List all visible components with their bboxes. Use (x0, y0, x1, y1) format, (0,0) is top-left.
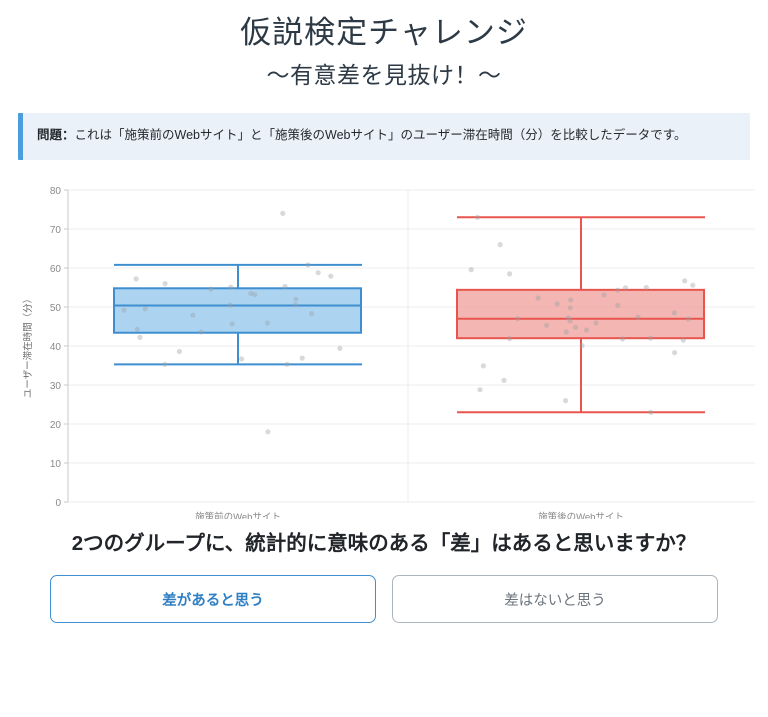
data-point (601, 292, 606, 297)
data-point (584, 327, 589, 332)
answer-button-row: 差があると思う 差はないと思う (0, 575, 768, 623)
data-point (648, 409, 653, 414)
data-point (481, 363, 486, 368)
data-point (682, 278, 687, 283)
problem-callout: 問題：これは「施策前のWebサイト」と「施策後のWebサイト」のユーザー滞在時間… (18, 113, 750, 160)
data-point (163, 281, 168, 286)
data-point (177, 348, 182, 353)
data-point (316, 270, 321, 275)
box-0 (114, 288, 361, 332)
page-title: 仮説検定チャレンジ (0, 14, 768, 53)
problem-label: 問題： (37, 128, 75, 142)
data-point (143, 306, 148, 311)
data-point (507, 271, 512, 276)
x-tick-label-0: 施策前のWebサイト (195, 511, 281, 519)
page-subtitle: 〜有意差を見抜け！〜 (0, 61, 768, 91)
data-point (137, 334, 142, 339)
data-point (300, 355, 305, 360)
answer-no-button[interactable]: 差はないと思う (392, 575, 718, 623)
data-point (230, 321, 235, 326)
data-point (681, 337, 686, 342)
y-tick-label-10: 10 (50, 459, 62, 470)
question-text: 2つのグループに、統計的に意味のある「差」はあると思いますか？ (30, 529, 738, 559)
data-point (536, 295, 541, 300)
data-point (265, 429, 270, 434)
data-point (469, 267, 474, 272)
data-point (573, 324, 578, 329)
y-tick-label-60: 60 (50, 264, 62, 275)
data-point (477, 387, 482, 392)
x-tick-label-1: 施策後のWebサイト (538, 511, 624, 519)
y-tick-label-0: 0 (55, 498, 61, 509)
data-point (475, 214, 480, 219)
data-point (686, 316, 691, 321)
data-point (507, 336, 512, 341)
data-point (239, 356, 244, 361)
data-point (293, 296, 298, 301)
data-point (563, 398, 568, 403)
box-1 (457, 289, 704, 337)
y-tick-label-40: 40 (50, 342, 62, 353)
data-point (594, 320, 599, 325)
data-point (568, 297, 573, 302)
data-point (228, 302, 233, 307)
boxplot-svg: 01020304050607080ユーザー滞在時間（分）施策前のWebサイト施策… (0, 174, 768, 519)
data-point (635, 314, 640, 319)
data-point (293, 302, 298, 307)
data-point (501, 377, 506, 382)
page-header: 仮説検定チャレンジ 〜有意差を見抜け！〜 (0, 0, 768, 91)
data-point (280, 210, 285, 215)
data-point (199, 329, 204, 334)
data-point (134, 276, 139, 281)
problem-text: これは「施策前のWebサイト」と「施策後のWebサイト」のユーザー滞在時間（分）… (75, 128, 687, 142)
hypothesis-test-challenge-page: 仮説検定チャレンジ 〜有意差を見抜け！〜 問題：これは「施策前のWebサイト」と… (0, 0, 768, 717)
data-point (564, 329, 569, 334)
data-point (544, 322, 549, 327)
data-point (615, 287, 620, 292)
data-point (190, 312, 195, 317)
data-point (672, 310, 677, 315)
y-tick-label-80: 80 (50, 186, 62, 197)
data-point (121, 307, 126, 312)
data-point (309, 311, 314, 316)
data-point (135, 326, 140, 331)
data-point (328, 273, 333, 278)
data-point (228, 284, 233, 289)
data-point (498, 242, 503, 247)
data-point (252, 291, 257, 296)
y-tick-label-50: 50 (50, 303, 62, 314)
y-tick-label-70: 70 (50, 225, 62, 236)
data-point (283, 283, 288, 288)
data-point (285, 361, 290, 366)
data-point (568, 318, 573, 323)
data-point (615, 302, 620, 307)
data-point (672, 350, 677, 355)
y-axis-title: ユーザー滞在時間（分） (22, 293, 34, 397)
data-point (644, 284, 649, 289)
data-point (337, 345, 342, 350)
data-point (208, 286, 213, 291)
data-point (623, 285, 628, 290)
y-tick-label-30: 30 (50, 381, 62, 392)
data-point (305, 262, 310, 267)
data-point (648, 335, 653, 340)
data-point (555, 301, 560, 306)
answer-yes-button[interactable]: 差があると思う (50, 575, 376, 623)
data-point (162, 361, 167, 366)
data-point (265, 320, 270, 325)
data-point (568, 305, 573, 310)
y-tick-label-20: 20 (50, 420, 62, 431)
boxplot-chart: 01020304050607080ユーザー滞在時間（分）施策前のWebサイト施策… (0, 174, 768, 519)
data-point (515, 316, 520, 321)
data-point (579, 343, 584, 348)
data-point (690, 282, 695, 287)
data-point (620, 336, 625, 341)
